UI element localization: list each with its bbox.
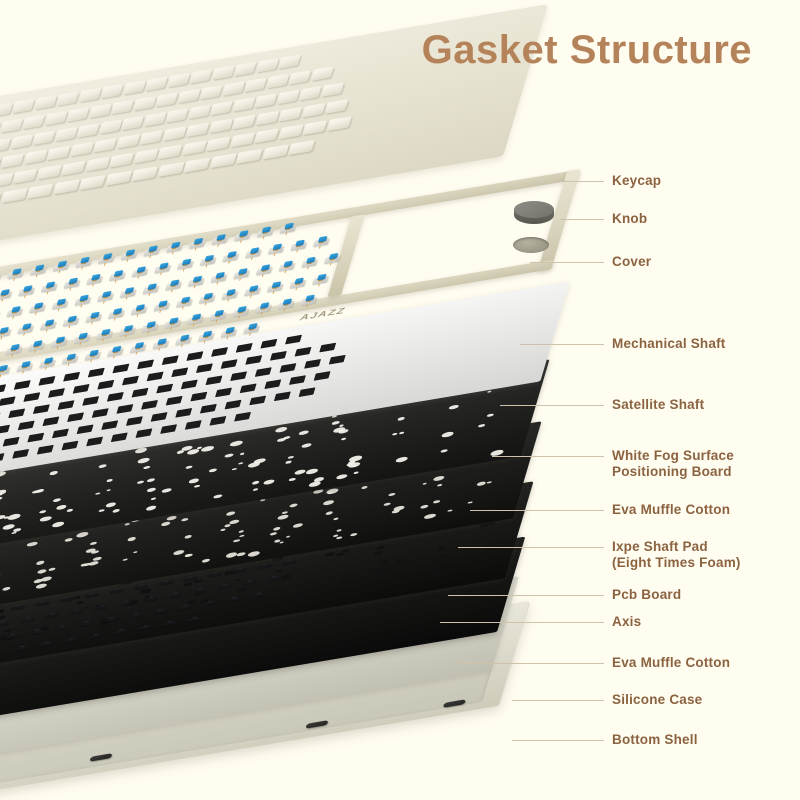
keycap — [324, 99, 348, 114]
mechanical-switch — [96, 328, 114, 340]
keycap — [288, 140, 315, 155]
callout-label-keycap: Keycap — [612, 173, 661, 189]
keycap — [145, 77, 168, 92]
foam-perforation — [189, 478, 200, 484]
keycap — [11, 99, 34, 114]
axis-clip — [242, 580, 256, 585]
foam-perforation — [176, 450, 184, 454]
mechanical-switch — [243, 323, 261, 335]
keycap — [79, 175, 106, 190]
switch-cutout — [0, 453, 4, 463]
switch-cutout — [77, 424, 94, 434]
mechanical-switch — [109, 270, 127, 282]
foam-perforation — [136, 480, 144, 484]
axis-clip — [45, 613, 59, 618]
keycap — [0, 173, 13, 188]
switch-cutout — [86, 437, 103, 447]
mechanical-switch — [313, 235, 331, 247]
foam-perforation — [35, 560, 45, 565]
mechanical-switch — [0, 309, 1, 321]
keycap — [56, 91, 79, 106]
foam-perforation — [487, 413, 495, 417]
callout-label-line1: Mechanical Shaft — [612, 336, 725, 352]
keycap — [66, 107, 89, 122]
foam-perforation — [208, 468, 217, 473]
keycap — [109, 153, 134, 168]
foam-perforation — [231, 468, 236, 471]
foam-perforation — [477, 481, 487, 486]
keycap — [23, 150, 47, 165]
axis-clip — [168, 593, 182, 598]
switch-cutout — [166, 396, 183, 406]
axis-clip — [70, 609, 84, 614]
foam-perforation — [277, 437, 286, 442]
callout-label-bottom-shell: Bottom Shell — [612, 732, 698, 748]
foam-perforation — [350, 533, 358, 537]
keycap — [76, 123, 99, 138]
mechanical-switch — [130, 304, 148, 316]
leader-line — [500, 405, 604, 406]
axis-clip — [178, 605, 192, 610]
axis-clip — [163, 621, 177, 626]
keycap — [266, 74, 289, 89]
foam-perforation — [98, 464, 107, 469]
foam-perforation — [161, 488, 172, 494]
foam-perforation — [142, 465, 150, 469]
foam-perforation — [225, 552, 238, 559]
switch-cutout — [225, 400, 242, 410]
switch-cutout — [314, 371, 331, 381]
foam-perforation — [336, 536, 342, 539]
foam-perforation — [424, 513, 437, 520]
switch-cutout — [27, 433, 44, 443]
foam-perforation — [146, 487, 157, 493]
axis-clip — [233, 568, 247, 573]
mechanical-switch — [141, 321, 159, 333]
foam-perforation — [478, 424, 485, 428]
axis-clip — [159, 581, 173, 586]
foam-perforation — [240, 534, 245, 537]
mechanical-switch — [73, 332, 91, 344]
mechanical-switch — [324, 252, 342, 264]
keycap — [278, 107, 302, 122]
mechanical-switch — [17, 323, 35, 335]
foam-perforation — [433, 500, 440, 504]
foam-perforation — [294, 469, 306, 475]
foam-perforation — [40, 576, 53, 583]
mechanical-switch — [7, 268, 25, 280]
foam-perforation — [308, 481, 321, 488]
foam-perforation — [225, 453, 234, 458]
callout-label-line2: (Eight Times Foam) — [612, 555, 741, 571]
mechanical-switch — [255, 302, 273, 314]
axis-clip — [128, 613, 142, 618]
mechanical-switch — [234, 230, 252, 242]
foam-perforation — [487, 390, 492, 393]
mechanical-switch — [86, 273, 104, 285]
axis-clip — [20, 618, 34, 623]
foam-perforation — [448, 404, 459, 410]
foam-perforation — [285, 536, 290, 539]
rubber-foot — [443, 699, 466, 708]
foam-perforation — [325, 511, 333, 515]
foam-perforation — [361, 486, 368, 490]
keycap — [10, 134, 33, 149]
leader-line — [555, 181, 604, 182]
axis-clip — [54, 626, 68, 631]
keycap — [255, 111, 279, 126]
mechanical-switch — [188, 275, 206, 287]
foam-perforation — [247, 461, 260, 468]
keycap — [139, 130, 163, 145]
foam-perforation — [468, 501, 473, 504]
keycap — [209, 153, 236, 168]
keycap — [206, 136, 231, 151]
switch-cutout — [279, 363, 296, 373]
switch-cutout — [299, 387, 316, 397]
callout-label-eva-muffle-cotton: Eva Muffle Cotton — [612, 655, 730, 671]
foam-perforation — [39, 515, 52, 522]
mechanical-switch — [75, 256, 93, 268]
switch-cutout — [215, 388, 232, 398]
keycap — [36, 165, 61, 180]
keycap — [288, 70, 311, 85]
foam-perforation — [122, 558, 127, 561]
foam-perforation — [274, 426, 288, 433]
axis-clip — [39, 642, 53, 647]
foam-perforation — [2, 587, 11, 592]
mechanical-switch — [152, 338, 170, 350]
keycap — [121, 116, 144, 131]
switch-cutout — [18, 421, 35, 431]
foam-perforation — [80, 563, 87, 567]
callout-label-ixpe-shaft-pad: Ixpe Shaft Pad(Eight Times Foam) — [612, 539, 741, 570]
switch-cutout — [160, 424, 177, 434]
axis-clip — [15, 646, 29, 651]
mechanical-switch — [51, 336, 69, 348]
mechanical-switch — [176, 296, 194, 308]
mechanical-switch — [131, 266, 149, 278]
foam-perforation — [288, 456, 294, 459]
mechanical-switch — [290, 239, 308, 251]
axis-clip — [134, 585, 148, 590]
keycap — [157, 162, 184, 177]
keycap — [165, 108, 188, 123]
foam-perforation — [49, 470, 59, 475]
foam-perforation — [201, 559, 210, 564]
mechanical-switch — [0, 289, 13, 301]
keycap — [143, 112, 166, 127]
keycap — [230, 132, 255, 147]
foam-perforation — [106, 479, 113, 482]
keycap — [88, 104, 111, 119]
mechanical-switch — [267, 243, 285, 255]
foam-perforation — [293, 522, 304, 528]
axis-clip — [104, 617, 118, 622]
foam-perforation — [66, 509, 72, 512]
mechanical-switch — [199, 254, 217, 266]
mechanical-switch — [175, 334, 193, 346]
mechanical-switch — [0, 364, 11, 376]
mechanical-switch — [211, 234, 229, 246]
callout-label-white-fog-surface: White Fog SurfacePositioning Board — [612, 448, 734, 479]
keycap — [32, 131, 55, 146]
mechanical-switch — [30, 264, 48, 276]
keycap — [157, 145, 182, 160]
foam-perforation — [289, 478, 296, 482]
foam-perforation — [273, 527, 281, 531]
axis-clip — [119, 601, 133, 606]
keycap — [131, 166, 158, 181]
axis-clip — [183, 577, 197, 582]
axis-clip — [208, 572, 222, 577]
page-title: Gasket Structure — [422, 28, 752, 73]
keycap — [61, 161, 86, 176]
switch-cutout — [42, 416, 59, 426]
callout-label-line1: White Fog Surface — [612, 448, 734, 464]
mechanical-switch — [222, 251, 240, 263]
foam-perforation — [395, 456, 409, 463]
foam-perforation — [433, 475, 445, 481]
keycap — [211, 65, 234, 80]
mechanical-switch — [143, 245, 161, 257]
axis-clip — [94, 605, 108, 610]
keycap — [185, 122, 209, 137]
mechanical-switch — [233, 268, 251, 280]
axis-clip — [257, 564, 271, 569]
mechanical-switch — [119, 324, 137, 336]
mechanical-switch — [153, 300, 171, 312]
switch-cutout — [107, 392, 124, 402]
switch-cutout — [181, 380, 198, 390]
switch-cutout — [200, 404, 217, 414]
keycap — [278, 54, 301, 69]
mechanical-switch — [84, 349, 102, 361]
foam-perforation — [263, 479, 275, 485]
rubber-foot — [89, 753, 112, 762]
mechanical-switch — [289, 277, 307, 289]
switch-cutout — [185, 420, 202, 430]
foam-perforation — [422, 482, 427, 484]
foam-perforation — [137, 457, 150, 464]
axis-clip — [113, 629, 127, 634]
switch-cutout — [230, 371, 247, 381]
keycap — [232, 115, 256, 130]
foam-perforation — [420, 504, 429, 509]
keycap — [93, 138, 117, 153]
keycap — [22, 115, 45, 130]
switch-cutout — [264, 379, 281, 389]
callout-label-mechanical-shaft: Mechanical Shaft — [612, 336, 725, 352]
axis-clip — [35, 601, 49, 606]
foam-perforation — [397, 417, 405, 421]
foam-perforation — [52, 521, 65, 528]
keycap — [0, 153, 24, 168]
foam-perforation — [124, 523, 130, 526]
mechanical-switch — [61, 353, 79, 365]
switch-cutout — [234, 412, 251, 422]
foam-perforation — [349, 455, 363, 462]
mechanical-switch — [107, 345, 125, 357]
mechanical-switch — [108, 307, 126, 319]
foam-perforation — [64, 537, 73, 542]
leader-line — [530, 262, 604, 263]
axis-clip — [187, 617, 201, 622]
foam-perforation — [37, 569, 47, 574]
mechanical-switch — [16, 360, 34, 372]
keycap — [100, 84, 123, 99]
foam-perforation — [27, 541, 38, 547]
foam-perforation — [7, 513, 21, 520]
keycap — [167, 73, 190, 88]
switch-cutout — [190, 392, 207, 402]
callout-label-knob: Knob — [612, 211, 647, 227]
leader-line — [492, 456, 604, 457]
callout-label-eva-muffle-cotton: Eva Muffle Cotton — [612, 502, 730, 518]
keycap — [0, 118, 23, 133]
axis-clip — [144, 597, 158, 602]
foam-perforation — [437, 483, 443, 486]
switch-cutout — [3, 437, 20, 447]
mechanical-switch — [177, 258, 195, 270]
mechanical-switch — [209, 309, 227, 321]
foam-perforation — [301, 443, 312, 449]
foam-perforation — [333, 517, 339, 520]
foam-perforation — [341, 437, 347, 440]
foam-perforation — [11, 532, 16, 535]
callout-label-line1: Silicone Case — [612, 692, 702, 708]
keycap — [177, 89, 200, 104]
mechanical-switch — [62, 315, 80, 327]
keycap — [181, 141, 206, 156]
mechanical-switch — [85, 311, 103, 323]
mechanical-switch — [142, 283, 160, 295]
foam-perforation — [89, 541, 97, 545]
axis-clip — [252, 593, 266, 598]
mechanical-switch — [0, 326, 12, 338]
switch-cutout — [240, 383, 257, 393]
mechanical-switch — [221, 288, 239, 300]
foam-perforation — [213, 494, 223, 499]
foam-perforation — [226, 511, 236, 516]
switch-cutout — [61, 441, 78, 451]
callout-label-line1: Pcb Board — [612, 587, 681, 603]
foam-perforation — [107, 489, 112, 491]
foam-perforation — [252, 481, 260, 485]
switch-cutout — [82, 396, 99, 406]
keycap — [34, 95, 57, 110]
foam-perforation — [289, 503, 298, 508]
switch-cutout — [255, 367, 272, 377]
keycap — [232, 97, 255, 112]
keycap — [162, 126, 186, 141]
mechanical-switch — [74, 294, 92, 306]
switch-cutout — [92, 408, 109, 418]
keycap — [44, 111, 67, 126]
mechanical-switch — [130, 341, 148, 353]
mechanical-switch — [40, 319, 58, 331]
foam-perforation — [398, 431, 404, 434]
mechanical-switch — [52, 260, 70, 272]
keycap — [276, 90, 299, 105]
mechanical-switch — [279, 222, 297, 234]
foam-perforation — [35, 583, 47, 589]
foam-perforation — [336, 529, 341, 532]
axis-clip — [0, 650, 4, 655]
foam-perforation — [285, 461, 291, 464]
foam-perforation — [112, 508, 120, 512]
foam-perforation — [440, 431, 454, 438]
keycap — [46, 146, 70, 161]
switch-cutout — [135, 428, 152, 438]
rubber-foot — [305, 720, 328, 729]
keycap — [122, 80, 145, 95]
keycap — [85, 157, 110, 172]
axis-clip — [138, 625, 152, 630]
callout-label-line1: Axis — [612, 614, 641, 630]
axis-clip — [267, 576, 281, 581]
mechanical-switch — [52, 298, 70, 310]
foam-perforation — [238, 462, 244, 465]
switch-cutout — [175, 408, 192, 418]
axis-clip — [227, 597, 241, 602]
foam-perforation — [38, 510, 46, 514]
axis-clip — [5, 634, 19, 639]
mechanical-switch — [5, 343, 23, 355]
mechanical-switch — [277, 298, 295, 310]
foam-perforation — [224, 524, 231, 528]
mechanical-switch — [18, 285, 36, 297]
foam-perforation — [277, 514, 289, 520]
switch-cutout — [126, 416, 143, 426]
keycap — [111, 100, 134, 115]
exploded-view-diagram: AJAZZ Gasket Structure KeycapKnobCoverMe… — [0, 0, 800, 800]
axis-clip — [217, 585, 231, 590]
switch-cutout — [209, 416, 226, 426]
foam-perforation — [184, 535, 193, 539]
axis-clip — [64, 638, 78, 643]
foam-perforation — [326, 488, 339, 495]
axis-clip — [282, 560, 296, 565]
foam-perforation — [279, 541, 284, 543]
keycap — [187, 105, 210, 120]
axis-clip — [109, 589, 123, 594]
callout-label-line1: Bottom Shell — [612, 732, 698, 748]
mechanical-switch — [97, 290, 115, 302]
leader-line — [512, 700, 604, 701]
foam-perforation — [270, 532, 278, 536]
switch-cutout — [249, 396, 266, 406]
foam-perforation — [161, 521, 171, 526]
axis-clip — [85, 593, 99, 598]
switch-cutout — [329, 355, 346, 365]
foam-perforation — [447, 509, 453, 512]
switch-cutout — [0, 425, 10, 435]
mechanical-switch — [220, 326, 238, 338]
switch-cutout — [33, 404, 50, 414]
axis-clip — [202, 601, 216, 606]
callout-label-line1: Satellite Shaft — [612, 397, 704, 413]
foam-perforation — [95, 492, 100, 495]
mechanical-switch — [39, 357, 57, 369]
keycap — [69, 142, 93, 157]
foam-perforation — [237, 552, 246, 557]
foam-perforation — [194, 484, 200, 487]
callout-label-silicone-case: Silicone Case — [612, 692, 702, 708]
mechanical-switch — [164, 317, 182, 329]
mechanical-switch — [301, 256, 319, 268]
keycap — [326, 116, 351, 131]
